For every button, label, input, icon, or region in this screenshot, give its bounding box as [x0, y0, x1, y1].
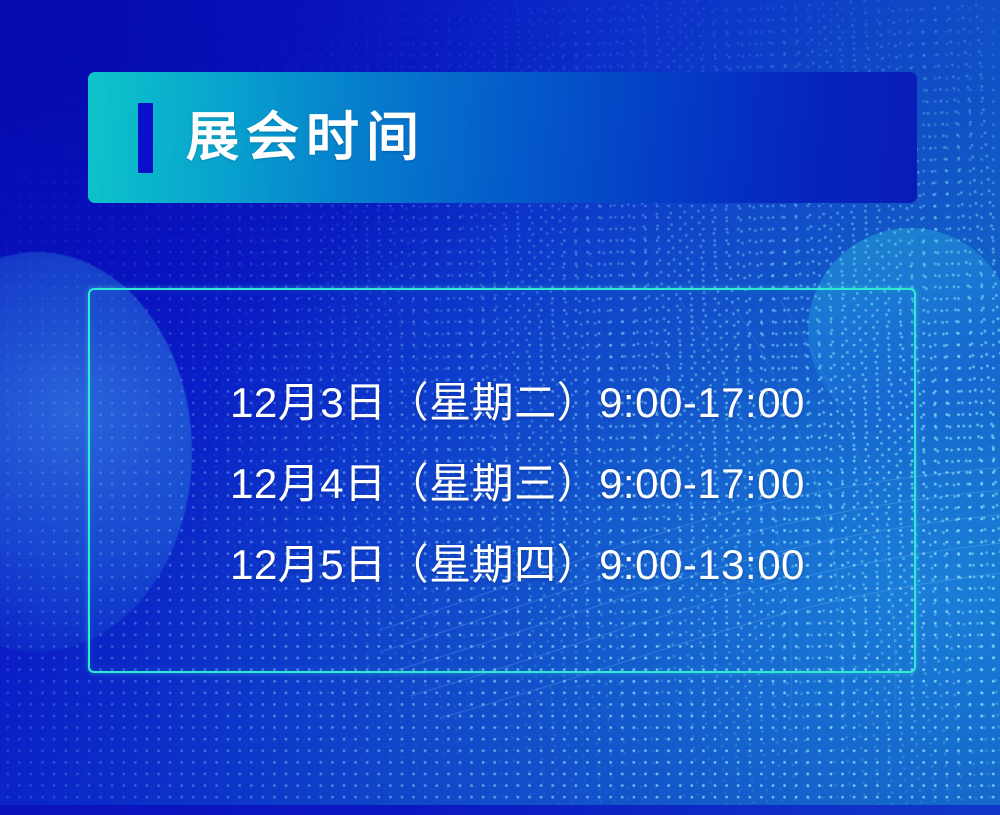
- schedule-line-1: 12月3日（星期二）9:00-17:00: [230, 362, 805, 443]
- page-title: 展会时间: [186, 111, 426, 164]
- schedule-line-3: 12月5日（星期四）9:00-13:00: [230, 524, 805, 605]
- bottom-strip: [0, 805, 1000, 815]
- poster-canvas: 展会时间 12月3日（星期二）9:00-17:00 12月4日（星期三）9:00…: [0, 0, 1000, 815]
- schedule-line-2: 12月4日（星期三）9:00-17:00: [230, 443, 805, 524]
- accent-bar: [138, 103, 153, 173]
- section-header-banner: 展会时间: [88, 72, 917, 203]
- schedule-list: 12月3日（星期二）9:00-17:00 12月4日（星期三）9:00-17:0…: [230, 362, 805, 605]
- schedule-card: 12月3日（星期二）9:00-17:00 12月4日（星期三）9:00-17:0…: [88, 288, 916, 673]
